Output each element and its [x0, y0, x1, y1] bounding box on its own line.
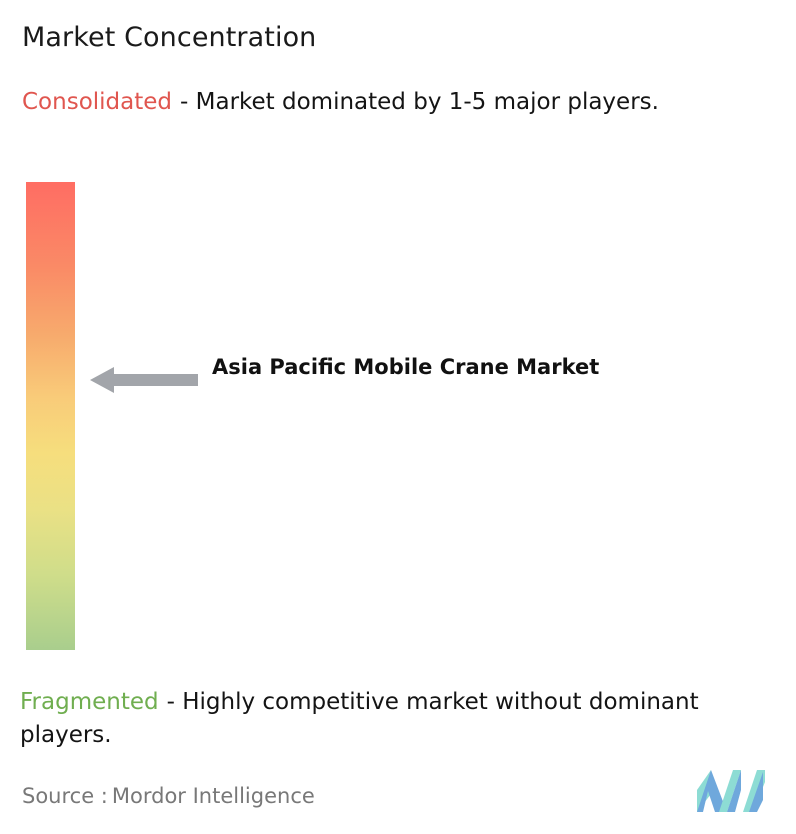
- legend-fragmented: Fragmented- Highly competitive market wi…: [20, 686, 786, 752]
- callout-label: Asia Pacific Mobile Crane Market: [212, 350, 632, 385]
- page-title: Market Concentration: [22, 20, 316, 56]
- mordor-intelligence-logo-icon: [697, 770, 765, 812]
- source-label: Source :: [22, 784, 108, 808]
- source-attribution: Source :Mordor Intelligence: [22, 781, 315, 811]
- concentration-gradient-bar: [26, 182, 75, 650]
- legend-term-consolidated: Consolidated: [22, 89, 172, 115]
- legend-consolidated: Consolidated- Market dominated by 1-5 ma…: [22, 86, 762, 119]
- callout-arrow-icon: [90, 366, 198, 394]
- legend-description-consolidated: - Market dominated by 1-5 major players.: [180, 89, 659, 115]
- legend-term-fragmented: Fragmented: [20, 689, 159, 715]
- source-name: Mordor Intelligence: [112, 784, 315, 808]
